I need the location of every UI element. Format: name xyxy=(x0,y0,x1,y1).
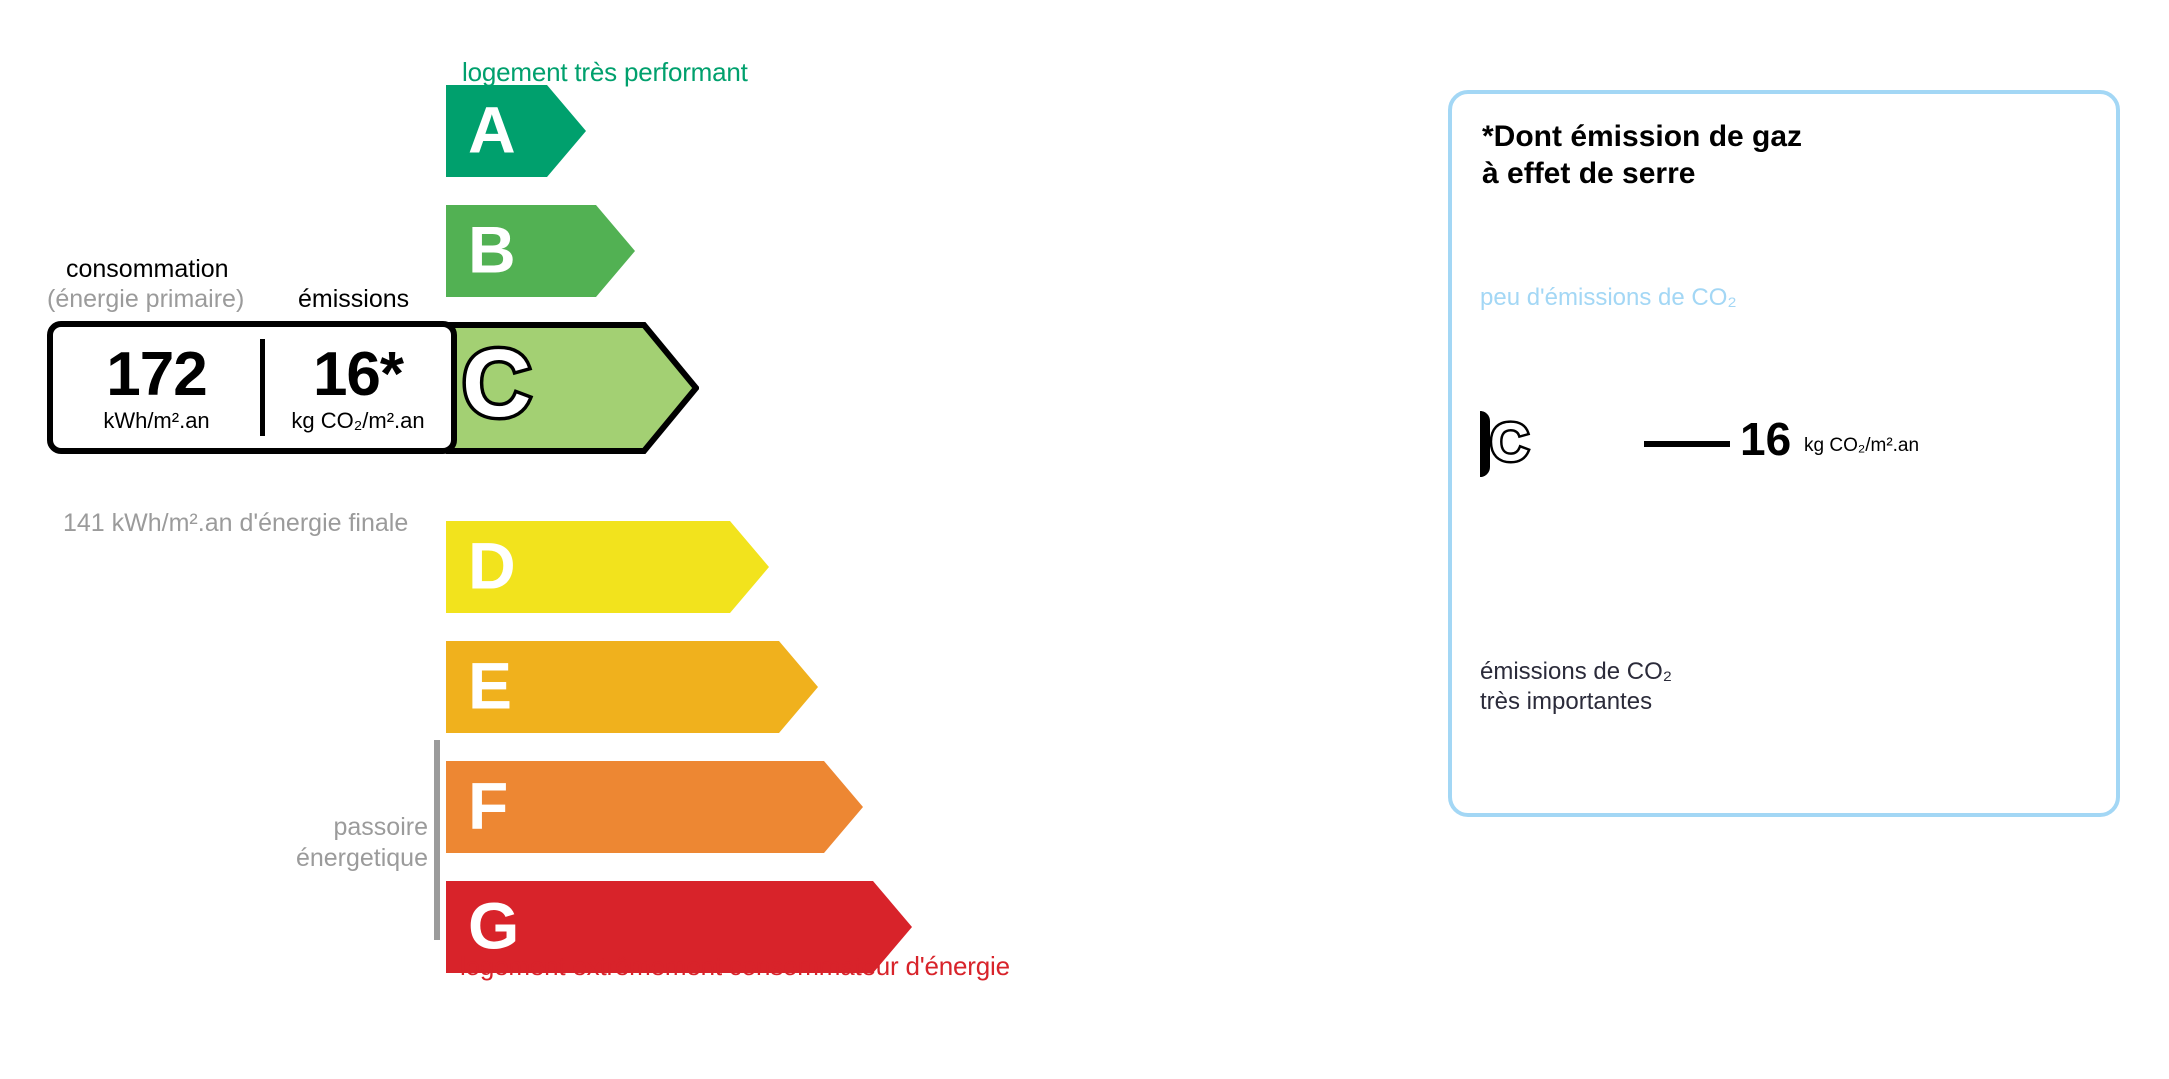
co2-band-letter-f: F xyxy=(1489,581,1506,608)
consumption-value: 172 xyxy=(106,345,206,406)
energy-band-arrow-e xyxy=(446,641,818,733)
energy-band-f: F xyxy=(446,761,863,853)
co2-band-c: C xyxy=(1480,411,1643,477)
co2-measured-unit: kg CO₂/m².an xyxy=(1804,435,1919,457)
passoire-energetique-bracket xyxy=(434,740,440,940)
co2-band-letter-g: G xyxy=(1489,626,1510,653)
energy-band-arrow-a xyxy=(446,85,586,177)
energy-performance-scale: logement très performant ABCDEFG logemen… xyxy=(0,0,1400,1079)
consumption-unit: kWh/m².an xyxy=(103,408,209,434)
co2-band-letter-e: E xyxy=(1489,536,1507,563)
co2-band-e: E xyxy=(1480,533,1724,567)
emissions-unit: kg CO₂/m².an xyxy=(291,408,424,434)
co2-leader-line xyxy=(1644,441,1730,447)
consumption-header-sublabel: (énergie primaire) xyxy=(47,285,244,314)
co2-band-bar-c xyxy=(1480,411,1490,477)
co2-band-letter-c: C xyxy=(1490,415,1529,469)
energy-band-d: D xyxy=(446,521,769,613)
co2-band-letter-a: A xyxy=(1489,319,1509,346)
scale-bottom-caption: logement extrêmement consommateur d'éner… xyxy=(460,951,1010,982)
co2-band-letter-b: B xyxy=(1489,364,1509,391)
emissions-value-cell: 16* kg CO₂/m².an xyxy=(265,327,451,448)
measured-values-box: 172 kWh/m².an 16* kg CO₂/m².an xyxy=(47,321,457,454)
energy-band-arrow-c xyxy=(446,322,699,454)
scale-top-caption: logement très performant xyxy=(462,57,748,88)
emissions-header-label: émissions xyxy=(298,285,409,314)
energy-band-arrow-f xyxy=(446,761,863,853)
co2-measured-value: 16 xyxy=(1740,416,1791,462)
emissions-value: 16* xyxy=(313,345,403,406)
passoire-energetique-label: passoire énergetique xyxy=(268,812,428,875)
co2-band-g: G xyxy=(1480,623,1795,657)
energy-band-a: A xyxy=(446,85,586,177)
co2-top-caption: peu d'émissions de CO₂ xyxy=(1480,284,1737,312)
co2-band-f: F xyxy=(1480,578,1757,612)
energy-band-b: B xyxy=(446,205,635,297)
co2-band-a: A xyxy=(1480,316,1578,350)
energy-band-c: C xyxy=(446,322,699,454)
energy-band-arrow-d xyxy=(446,521,769,613)
co2-bottom-caption: émissions de CO₂ très importantes xyxy=(1480,657,1672,717)
co2-panel-title: *Dont émission de gaz à effet de serre xyxy=(1482,119,1802,192)
co2-band-b: B xyxy=(1480,361,1607,395)
energy-band-arrow-b xyxy=(446,205,635,297)
final-energy-note: 141 kWh/m².an d'énergie finale xyxy=(63,508,408,539)
co2-band-letter-d: D xyxy=(1489,491,1509,518)
consumption-header-label: consommation xyxy=(66,255,229,284)
consumption-value-cell: 172 kWh/m².an xyxy=(53,327,260,448)
co2-band-d: D xyxy=(1480,488,1685,522)
co2-emissions-panel: *Dont émission de gaz à effet de serre p… xyxy=(1448,90,2120,817)
energy-band-e: E xyxy=(446,641,818,733)
